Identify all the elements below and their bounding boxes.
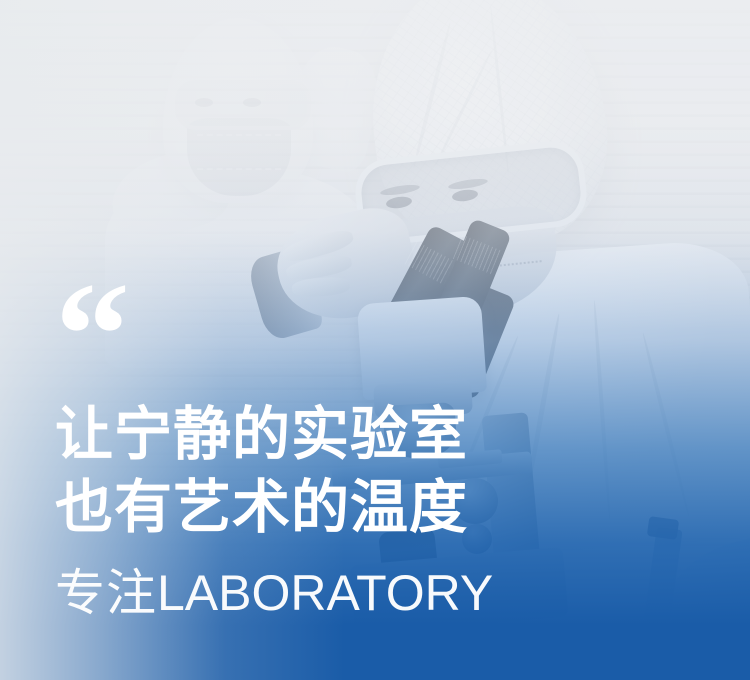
opening-quote-icon: “ — [55, 296, 615, 372]
hero-banner: “ 让宁静的实验室 也有艺术的温度 专注LABORATORY — [0, 0, 750, 680]
subtitle-chinese: 专注 — [55, 565, 157, 621]
headline-line-1: 让宁静的实验室 — [55, 398, 615, 471]
headline-line-2: 也有艺术的温度 — [55, 471, 615, 544]
banner-headline: 让宁静的实验室 也有艺术的温度 — [55, 398, 615, 544]
banner-subtitle: 专注LABORATORY — [55, 566, 615, 621]
subtitle-english: LABORATORY — [157, 565, 493, 621]
banner-text-block: “ 让宁静的实验室 也有艺术的温度 专注LABORATORY — [55, 296, 615, 621]
